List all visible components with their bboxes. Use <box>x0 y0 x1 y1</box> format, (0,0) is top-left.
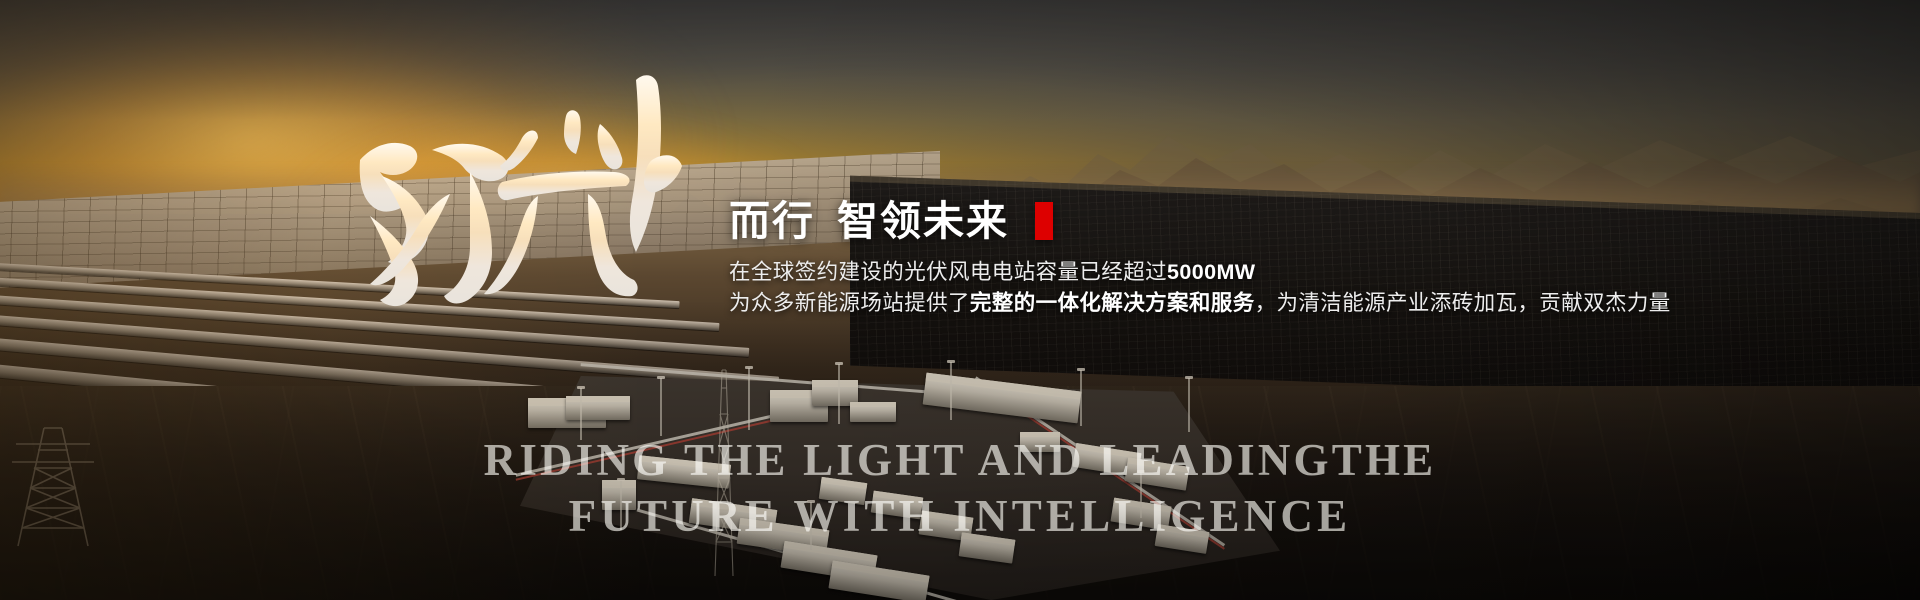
switchgear-building <box>566 396 630 420</box>
headline-part-2: 智领未来 <box>837 196 1009 246</box>
light-pole <box>1080 370 1082 426</box>
transmission-pylon-icon <box>10 418 96 548</box>
subtitle-line-2-lead: 为众多新能源场站提供了 <box>729 291 970 315</box>
page-title: 而行 智领未来 <box>729 196 1629 246</box>
substation-yard <box>520 352 1280 600</box>
subtitle-line-2: 为众多新能源场站提供了完整的一体化解决方案和服务，为清洁能源产业添砖加瓦，贡献双… <box>729 288 1629 319</box>
light-pole <box>580 388 582 440</box>
subtitle-line-1: 在全球签约建设的光伏风电电站容量已经超过5000MW <box>729 257 1629 288</box>
skid-unit <box>850 402 896 422</box>
hero-banner: 而行 智领未来 在全球签约建设的光伏风电电站容量已经超过5000MW 为众多新能… <box>0 0 1920 600</box>
light-pole <box>810 502 812 550</box>
subtitle-line-2-tail: ，为清洁能源产业添砖加瓦，贡献双杰力量 <box>1255 291 1671 315</box>
headline-part-1: 而行 <box>729 196 815 246</box>
light-pole <box>950 362 952 420</box>
light-pole <box>1140 472 1142 518</box>
light-pole <box>1188 378 1190 432</box>
bess-skid <box>602 480 636 510</box>
lattice-tower-icon <box>712 366 736 578</box>
accent-block <box>1035 202 1053 240</box>
subtitle-capacity-value: 5000MW <box>1167 260 1255 284</box>
light-pole <box>660 378 662 436</box>
subtitle-line-2-emphasis: 完整的一体化解决方案和服务 <box>970 291 1255 315</box>
copy-block: 而行 智领未来 在全球签约建设的光伏风电电站容量已经超过5000MW 为众多新能… <box>729 196 1629 319</box>
subtitle-line-1-text: 在全球签约建设的光伏风电电站容量已经超过 <box>729 260 1167 284</box>
light-pole <box>838 364 840 424</box>
bess-container <box>1020 432 1060 452</box>
light-pole <box>620 480 622 530</box>
light-pole <box>748 368 750 430</box>
